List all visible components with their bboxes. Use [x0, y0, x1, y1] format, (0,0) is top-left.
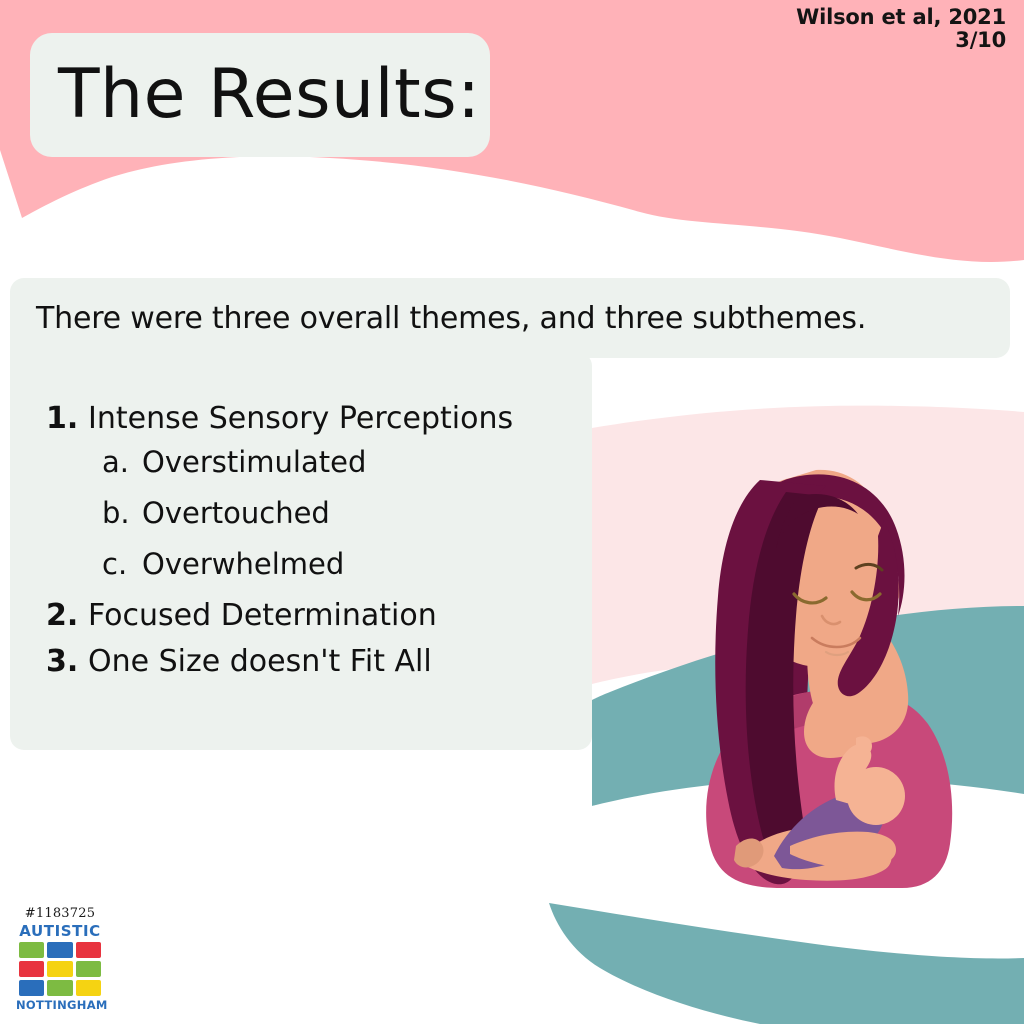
themes-list: 1. Intense Sensory Perceptions a. Overst… — [10, 352, 592, 677]
baby-fist — [856, 736, 872, 755]
logo-cell-8 — [47, 980, 72, 996]
hair-sweep-left — [715, 480, 826, 884]
chin-crease — [826, 652, 848, 655]
baby-blanket — [774, 793, 884, 869]
subthemes-list: a. Overstimulated b. Overtouched c. — [46, 448, 592, 579]
logo-cell-3 — [76, 942, 101, 958]
themes-card: 1. Intense Sensory Perceptions a. Overst… — [10, 352, 592, 750]
subtheme-label: Overstimulated — [142, 448, 366, 477]
teal-wave-bottom — [549, 903, 1024, 1024]
logo-word-nottingham: NOTTINGHAM — [16, 999, 104, 1012]
header-meta: Wilson et al, 2021 3/10 — [796, 6, 1006, 51]
arm-supporting — [742, 828, 892, 881]
hair-back — [728, 506, 838, 886]
hair-shadow-strand — [746, 492, 824, 878]
theme-label: Intense Sensory Perceptions — [88, 404, 513, 434]
forearm — [790, 832, 896, 869]
eye-left-closed — [794, 594, 826, 603]
baby-arm — [835, 744, 872, 804]
face — [739, 470, 889, 667]
dress-shoulder — [737, 690, 820, 756]
autistic-nottingham-logo: #1183725 AUTISTIC NOTTINGHAM — [16, 906, 104, 1012]
hair-highlight — [776, 494, 858, 548]
card-joiner — [10, 338, 170, 358]
subtheme-label: Overwhelmed — [142, 550, 344, 579]
logo-cell-5 — [47, 961, 72, 977]
page-title: The Results: — [30, 61, 481, 129]
hand — [734, 839, 763, 868]
logo-cell-2 — [47, 942, 72, 958]
chest-skin — [804, 688, 877, 758]
subtheme-row: c. Overwhelmed — [102, 550, 592, 579]
citation-text: Wilson et al, 2021 — [796, 6, 1006, 29]
eye-right-closed — [852, 592, 880, 600]
baby-head — [847, 767, 905, 825]
nose — [822, 616, 840, 624]
logo-word-autistic: AUTISTIC — [16, 923, 104, 940]
light-pink-band — [592, 406, 1024, 690]
subtheme-item-b: b. Overtouched — [102, 499, 592, 528]
title-chip: The Results: — [30, 33, 490, 157]
subtheme-label: Overtouched — [142, 499, 330, 528]
subtheme-marker: c. — [102, 550, 142, 579]
subtheme-marker: a. — [102, 448, 142, 477]
logo-cell-1 — [19, 942, 44, 958]
slide-canvas: Wilson et al, 2021 3/10 The Results: The… — [0, 0, 1024, 1024]
charity-number: #1183725 — [16, 906, 104, 921]
subtheme-item-a: a. Overstimulated — [102, 448, 592, 477]
hair-front — [741, 474, 905, 616]
theme-marker: 1. — [46, 404, 88, 434]
theme-label: Focused Determination — [88, 601, 437, 631]
neck-chest — [807, 612, 908, 744]
ear — [878, 571, 900, 612]
theme-item-1: 1. Intense Sensory Perceptions a. Overst… — [46, 404, 592, 579]
theme-label: One Size doesn't Fit All — [88, 647, 432, 677]
logo-color-grid — [19, 942, 101, 996]
theme-marker: 3. — [46, 647, 88, 677]
white-separator — [592, 785, 1024, 888]
intro-text: There were three overall themes, and thr… — [10, 301, 866, 336]
subtheme-item-c: c. Overwhelmed — [102, 550, 592, 579]
mouth — [812, 638, 860, 647]
dress — [706, 690, 952, 888]
theme-row: 1. Intense Sensory Perceptions — [46, 404, 592, 434]
eyebrow-right — [856, 564, 882, 570]
hair-right — [838, 520, 899, 696]
logo-cell-7 — [19, 980, 44, 996]
theme-row: 2. Focused Determination — [46, 601, 592, 631]
teal-band — [592, 606, 1024, 806]
subtheme-row: b. Overtouched — [102, 499, 592, 528]
subtheme-marker: b. — [102, 499, 142, 528]
theme-row: 3. One Size doesn't Fit All — [46, 647, 592, 677]
theme-item-2: 2. Focused Determination — [46, 601, 592, 631]
theme-marker: 2. — [46, 601, 88, 631]
page-number: 3/10 — [796, 29, 1006, 52]
logo-cell-9 — [76, 980, 101, 996]
theme-item-3: 3. One Size doesn't Fit All — [46, 647, 592, 677]
subtheme-row: a. Overstimulated — [102, 448, 592, 477]
logo-cell-4 — [19, 961, 44, 977]
logo-cell-6 — [76, 961, 101, 977]
